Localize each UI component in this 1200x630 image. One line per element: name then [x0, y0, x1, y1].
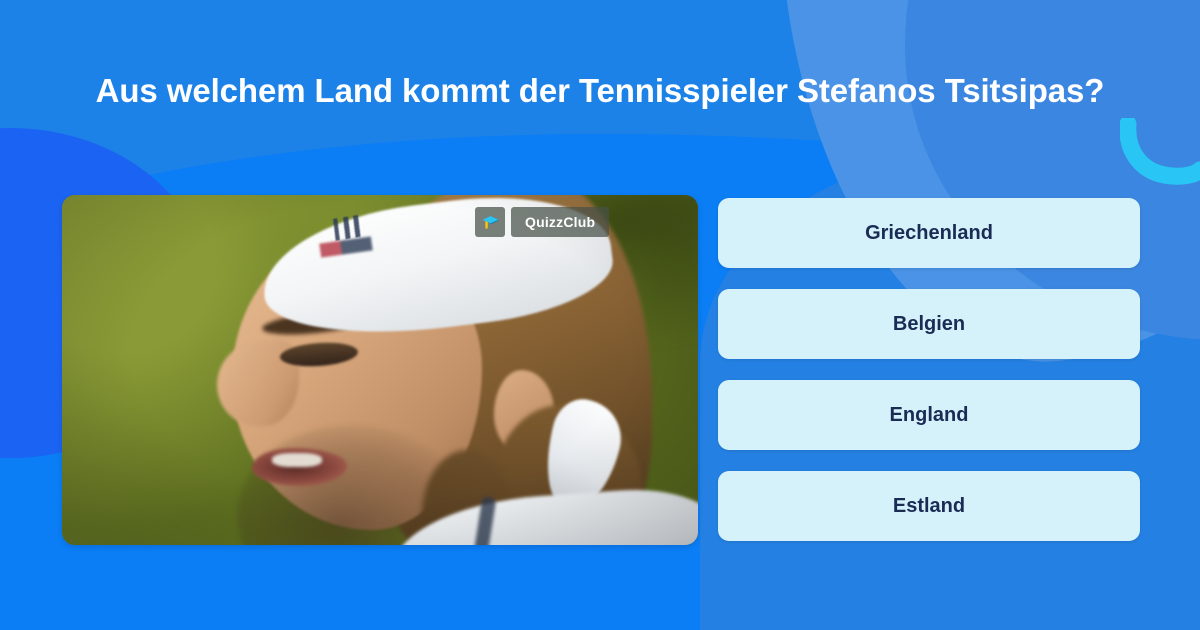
- question-image-card: [62, 195, 698, 545]
- cyan-swoosh-icon: [1120, 118, 1200, 188]
- photo-vignette: [62, 195, 698, 545]
- watermark-label: QuizzClub: [511, 207, 609, 237]
- answer-list: Griechenland Belgien England Estland: [718, 198, 1140, 541]
- quiz-card: Aus welchem Land kommt der Tennisspieler…: [0, 0, 1200, 630]
- watermark: QuizzClub: [475, 207, 609, 237]
- question-title: Aus welchem Land kommt der Tennisspieler…: [0, 72, 1200, 110]
- question-image: [62, 195, 698, 545]
- answer-option-2[interactable]: Belgien: [718, 289, 1140, 359]
- answer-option-1[interactable]: Griechenland: [718, 198, 1140, 268]
- answer-option-3[interactable]: England: [718, 380, 1140, 450]
- answer-option-4[interactable]: Estland: [718, 471, 1140, 541]
- graduation-cap-icon: [475, 207, 505, 237]
